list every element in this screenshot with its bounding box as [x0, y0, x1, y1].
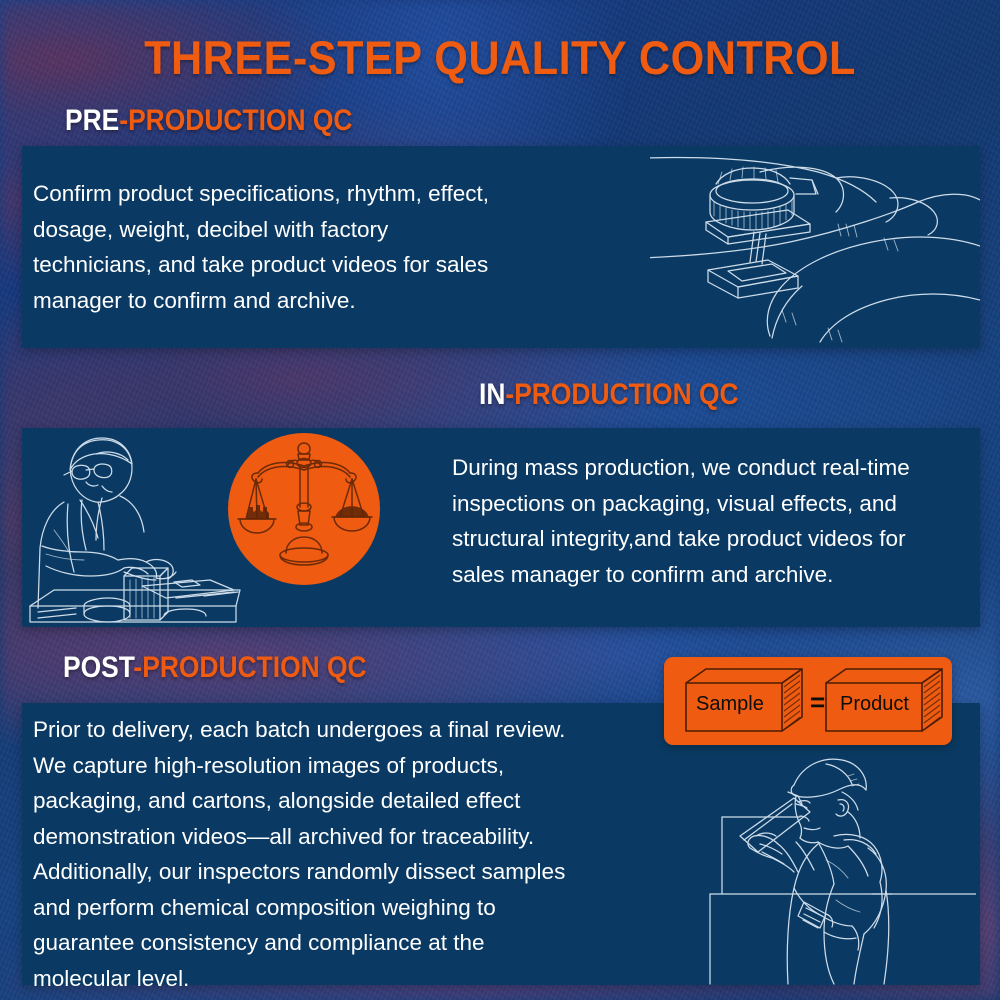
balance-scales-badge: [228, 433, 380, 585]
step-heading-post-production-orange: -PRODUCTION QC: [133, 651, 366, 684]
step-heading-pre-production: PRE-PRODUCTION QC: [65, 104, 352, 138]
step-heading-pre-production-orange: -PRODUCTION QC: [119, 104, 352, 137]
inspector-with-clipboard-icon: [676, 752, 976, 985]
page-title: THREE-STEP QUALITY CONTROL: [40, 30, 960, 85]
step-body-in-production: During mass production, we conduct real-…: [452, 450, 992, 592]
step-body-post-production: Prior to delivery, each batch undergoes …: [33, 712, 663, 996]
sample-equals-product-badge: Sample = Product: [664, 657, 952, 745]
badge-label-product: Product: [840, 693, 909, 716]
badge-label-sample: Sample: [696, 693, 764, 716]
step-heading-post-production-white: POST: [63, 651, 133, 684]
infographic-poster: THREE-STEP QUALITY CONTROL PRE-PRODUCTIO…: [0, 0, 1000, 1000]
badge-label-equals: =: [810, 687, 825, 718]
worker-inspecting-parts-icon: [24, 430, 244, 626]
step-heading-in-production-orange: -PRODUCTION QC: [505, 378, 738, 411]
step-body-pre-production: Confirm product specifications, rhythm, …: [33, 176, 593, 318]
step-heading-in-production-white: IN: [479, 378, 505, 411]
step-heading-pre-production-white: PRE: [65, 104, 119, 137]
step-heading-post-production: POST-PRODUCTION QC: [63, 651, 367, 685]
step-heading-in-production: IN-PRODUCTION QC: [479, 378, 739, 412]
hand-holding-product-icon: [650, 150, 980, 348]
